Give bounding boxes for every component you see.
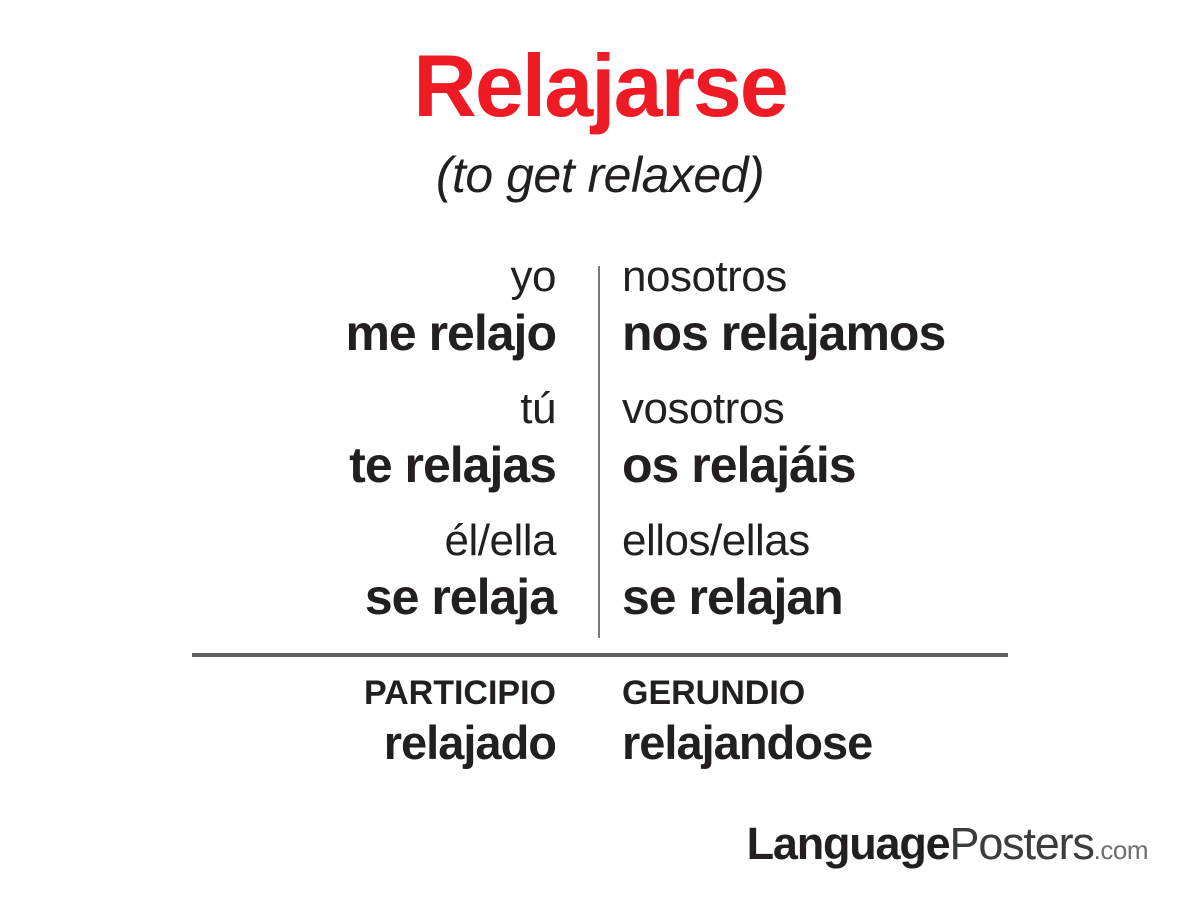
conjugation-row: yo me relajo nosotros nos relajamos (0, 252, 1200, 382)
pronoun-label: tú (18, 384, 556, 434)
conjugation-row: tú te relajas vosotros os relajáis (0, 384, 1200, 514)
pronoun-label: vosotros (622, 384, 1182, 434)
verb-translation: (to get relaxed) (0, 150, 1200, 200)
conjugated-form: se relajan (622, 566, 1182, 628)
conjugation-cell-plural-first: nosotros nos relajamos (622, 252, 1182, 382)
conjugation-row: él/ella se relaja ellos/ellas se relajan (0, 516, 1200, 646)
conjugation-table: yo me relajo nosotros nos relajamos tú t… (0, 252, 1200, 644)
conjugation-cell-singular-second: tú te relajas (18, 384, 578, 514)
conjugated-form: me relajo (18, 302, 556, 364)
verb-title: Relajarse (0, 42, 1200, 130)
verb-conjugation-poster: Relajarse (to get relaxed) yo me relajo … (0, 0, 1200, 900)
conjugated-form: se relaja (18, 566, 556, 628)
conjugation-cell-singular-third: él/ella se relaja (18, 516, 578, 646)
nonfinite-forms: PARTICIPIO relajado GERUNDIO relajandose (0, 672, 1200, 782)
participio-label: PARTICIPIO (18, 672, 556, 714)
pronoun-label: yo (18, 252, 556, 302)
pronoun-label: ellos/ellas (622, 516, 1182, 566)
gerundio-label: GERUNDIO (622, 672, 1182, 714)
logo-bold-word: Language (747, 818, 950, 869)
conjugated-form: os relajáis (622, 434, 1182, 496)
conjugated-form: nos relajamos (622, 302, 1182, 364)
participio-value: relajado (18, 714, 556, 772)
participio-cell: PARTICIPIO relajado (18, 672, 578, 772)
pronoun-label: él/ella (18, 516, 556, 566)
gerundio-value: relajandose (622, 714, 1182, 772)
poster-header: Relajarse (to get relaxed) (0, 42, 1200, 200)
conjugation-cell-plural-second: vosotros os relajáis (622, 384, 1182, 514)
pronoun-label: nosotros (622, 252, 1182, 302)
logo-tld: .com (1094, 835, 1148, 865)
gerundio-cell: GERUNDIO relajandose (622, 672, 1182, 772)
languageposters-logo[interactable]: LanguagePosters.com (0, 818, 1200, 870)
section-divider (192, 653, 1008, 657)
conjugated-form: te relajas (18, 434, 556, 496)
conjugation-cell-plural-third: ellos/ellas se relajan (622, 516, 1182, 646)
logo-regular-word: Posters (950, 818, 1094, 869)
conjugation-cell-singular-first: yo me relajo (18, 252, 578, 382)
